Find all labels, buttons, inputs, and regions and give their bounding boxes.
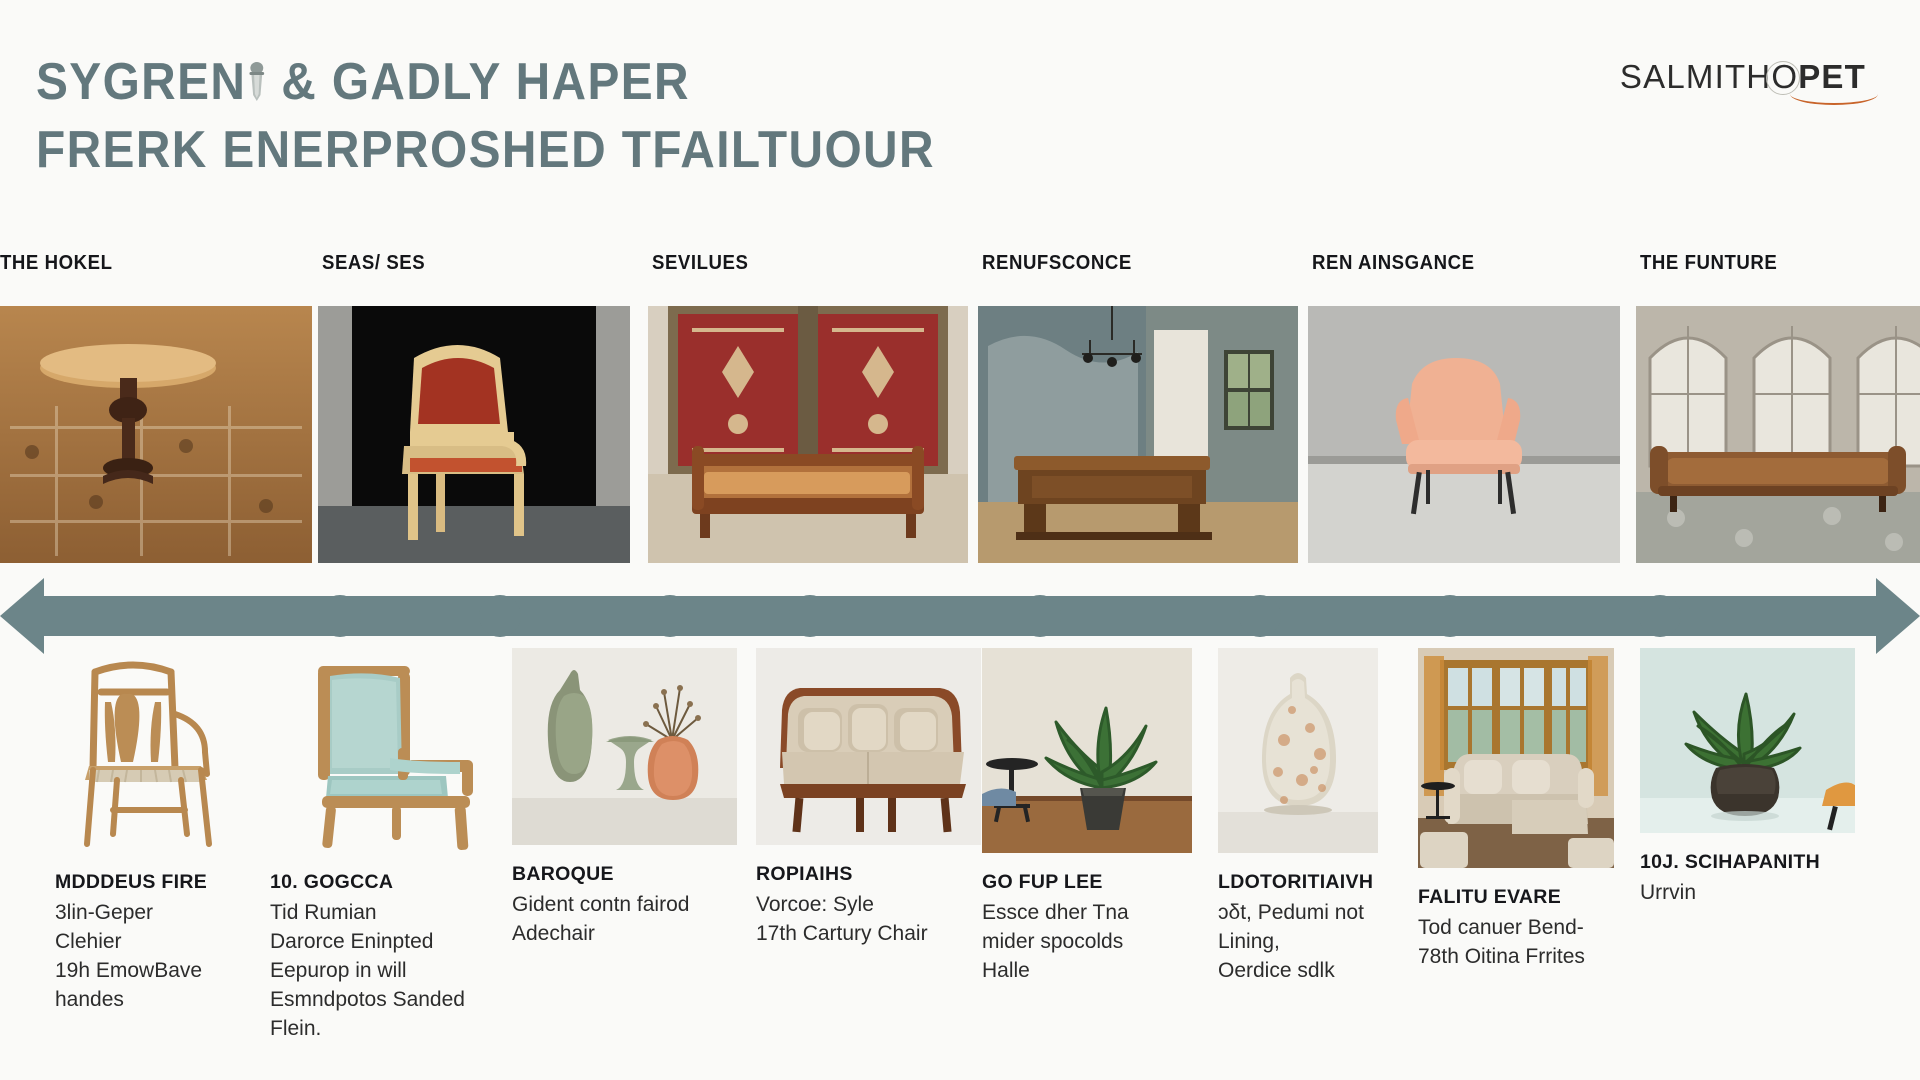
timeline-arrowhead-right: [1876, 578, 1920, 654]
furniture-card-image: [270, 648, 485, 853]
era-label-6: THE FUNTURE: [1640, 252, 1777, 286]
era-label-1: THE HOKEL: [0, 252, 113, 286]
era-label-4: RENUFSCONCE: [982, 252, 1132, 286]
furniture-card-title: FALITU EVARE: [1418, 886, 1614, 909]
furniture-card-image: [55, 648, 230, 853]
furniture-card-list: MDDDEUS FIRE3lin-GeperClehier19h EmowBav…: [0, 648, 1920, 1080]
furniture-card-title: 10J. SCIHAPANITH: [1640, 851, 1855, 874]
furniture-card[interactable]: LDOTORITIAIVHɔδt, Pedumi notLining,Oerdi…: [1218, 648, 1378, 985]
timeline-dot-2: [479, 595, 521, 637]
furniture-card-title: ROPIAIHS: [756, 863, 981, 886]
furniture-card-description: Essce dher Tnamider spocoldsHalle: [982, 898, 1192, 985]
era-image-3: [648, 306, 968, 563]
furniture-card[interactable]: ROPIAIHSVorcoe: Syle17th Cartury Chair: [756, 648, 981, 948]
era-image-2: [318, 306, 630, 563]
furniture-card[interactable]: 10. GOGCCATid RumianDarorce EninptedEepu…: [270, 648, 485, 1043]
furniture-card-title: 10. GOGCCA: [270, 871, 485, 894]
furniture-card[interactable]: FALITU EVARETod canuer Bend-78th Oitina …: [1418, 648, 1614, 971]
furniture-card-image: [1218, 648, 1378, 853]
furniture-card-description: Tid RumianDarorce EninptedEepurop in wil…: [270, 898, 485, 1043]
furniture-card-image: [756, 648, 981, 845]
timeline-dot-1: [319, 595, 361, 637]
timeline-dot-4: [789, 595, 831, 637]
ornament-icon: [246, 61, 266, 107]
page-header: SYGREN & GADLY HAPER FRERK ENERPROSHED T…: [0, 0, 1920, 252]
timeline-dot-8: [1639, 595, 1681, 637]
timeline-dot-5: [1019, 595, 1061, 637]
era-label-2: SEAS/ SES: [322, 252, 425, 286]
furniture-card-title: BAROQUE: [512, 863, 737, 886]
furniture-card-image: [1418, 648, 1614, 868]
logo-ring-icon: [1766, 61, 1800, 95]
era-image-5: [1308, 306, 1620, 563]
page-title-line-2: FRERK ENERPROSHED TFAILTUOUR: [36, 116, 935, 184]
furniture-card[interactable]: 10J. SCIHAPANITHUrrvin: [1640, 648, 1855, 907]
furniture-card-description: ɔδt, Pedumi notLining,Oerdice sdlk: [1218, 898, 1378, 985]
page-title-line-1-after: & GADLY HAPER: [267, 53, 690, 111]
brand-logo-bold: PET: [1798, 58, 1866, 95]
furniture-card-image: [512, 648, 737, 845]
timeline-dot-3: [649, 595, 691, 637]
furniture-card-image: [982, 648, 1192, 853]
brand-logo: SALMITHOPET: [1620, 58, 1866, 96]
furniture-card-title: GO FUP LEE: [982, 871, 1192, 894]
furniture-card-description: Vorcoe: Syle17th Cartury Chair: [756, 890, 981, 948]
timeline-arrow: [0, 572, 1920, 660]
timeline-dot-6: [1239, 595, 1281, 637]
era-label-5: REN AINSGANCE: [1312, 252, 1475, 286]
page-title-line-1-before: SYGREN: [36, 53, 246, 111]
furniture-card[interactable]: BAROQUEGident contn fairodAdechair: [512, 648, 737, 948]
furniture-card-description: Gident contn fairodAdechair: [512, 890, 737, 948]
page-title: SYGREN & GADLY HAPER FRERK ENERPROSHED T…: [36, 48, 1013, 184]
furniture-card[interactable]: GO FUP LEEEssce dher Tnamider spocoldsHa…: [982, 648, 1192, 985]
logo-underline-icon: [1790, 92, 1878, 105]
timeline-bar: [40, 596, 1880, 636]
era-label-3: SEVILUES: [652, 252, 748, 286]
era-image-4: [978, 306, 1298, 563]
furniture-card-title: MDDDEUS FIRE: [55, 871, 230, 894]
furniture-card-description: Tod canuer Bend-78th Oitina Frrites: [1418, 913, 1614, 971]
era-image-6: [1636, 306, 1920, 563]
era-strip: THE HOKEL SEAS/ SES SEVILUES RENUFSCONCE: [0, 252, 1920, 572]
brand-logo-text: SALMITHOPET: [1620, 58, 1866, 96]
page-title-line-1: SYGREN & GADLY HAPER: [36, 48, 935, 116]
furniture-card[interactable]: MDDDEUS FIRE3lin-GeperClehier19h EmowBav…: [55, 648, 230, 1014]
timeline-arrowhead-left: [0, 578, 44, 654]
furniture-card-image: [1640, 648, 1855, 833]
timeline-dot-7: [1429, 595, 1471, 637]
furniture-card-title: LDOTORITIAIVH: [1218, 871, 1378, 894]
era-image-1: [0, 306, 312, 563]
furniture-card-description: Urrvin: [1640, 878, 1855, 907]
furniture-card-description: 3lin-GeperClehier19h EmowBavehandes: [55, 898, 230, 1014]
